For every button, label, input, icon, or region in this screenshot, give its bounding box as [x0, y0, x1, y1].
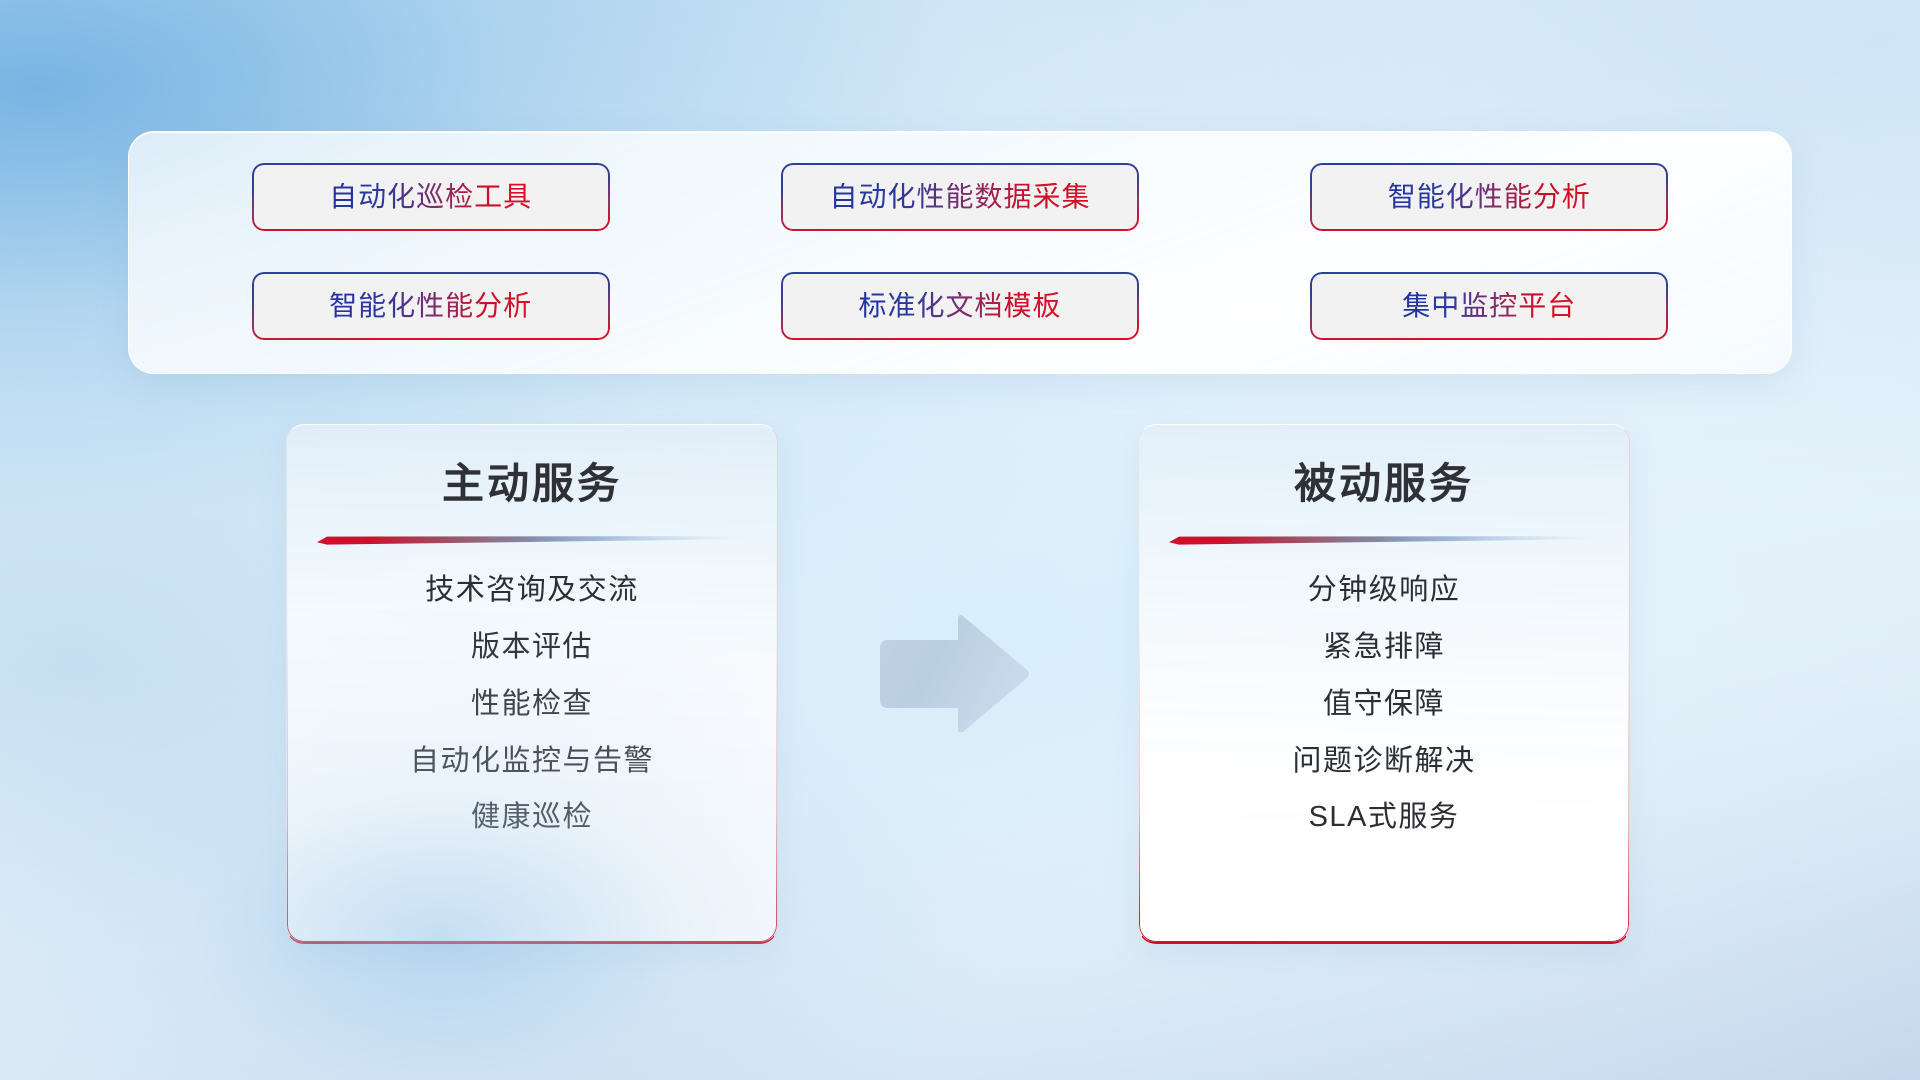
card-title: 主动服务 [287, 461, 777, 507]
list-item[interactable]: 自动化监控与告警 [410, 744, 654, 779]
service-list-proactive: 技术咨询及交流 版本评估 性能检查 自动化监控与告警 健康巡检 [287, 573, 777, 835]
divider-icon [1169, 533, 1599, 545]
capability-pill-label: 自动化巡检工具 [329, 183, 532, 211]
service-list-reactive: 分钟级响应 紧急排障 值守保障 问题诊断解决 SLA式服务 [1139, 573, 1629, 835]
capability-pill-label: 智能化性能分析 [1388, 183, 1591, 211]
capability-pill-label: 集中监控平台 [1402, 292, 1576, 320]
capability-pill-label: 智能化性能分析 [329, 292, 532, 320]
arrow-right-icon [872, 612, 1032, 732]
capability-pill-label: 标准化文档模板 [858, 292, 1061, 320]
card-divider [1169, 533, 1599, 545]
capability-pill-6[interactable]: 集中监控平台 [1310, 272, 1668, 340]
list-item[interactable]: 问题诊断解决 [1292, 744, 1475, 779]
list-item[interactable]: 值守保障 [1323, 687, 1445, 722]
list-item[interactable]: 性能检查 [471, 687, 593, 722]
service-card-reactive[interactable]: 被动服务 分钟级响应 紧急排障 [1138, 424, 1630, 944]
list-item[interactable]: 版本评估 [471, 630, 593, 665]
divider-icon [317, 533, 747, 545]
slide-canvas: 自动化巡检工具 自动化性能数据采集 智能化性能分析 智能化性能分析 标准化文档模… [0, 0, 1920, 1080]
capability-pill-5[interactable]: 标准化文档模板 [781, 272, 1139, 340]
card-title: 被动服务 [1139, 461, 1629, 507]
capability-pill-4[interactable]: 智能化性能分析 [252, 272, 610, 340]
service-card-proactive[interactable]: 主动服务 技术咨询及交流 版本评估 [286, 424, 778, 944]
capability-pill-2[interactable]: 自动化性能数据采集 [781, 163, 1139, 231]
list-item[interactable]: 分钟级响应 [1308, 573, 1461, 608]
capability-pill-1[interactable]: 自动化巡检工具 [252, 163, 610, 231]
capability-pill-label: 自动化性能数据采集 [829, 183, 1090, 211]
card-divider [317, 533, 747, 545]
list-item[interactable]: 健康巡检 [471, 800, 593, 835]
list-item[interactable]: 紧急排障 [1323, 630, 1445, 665]
capabilities-panel: 自动化巡检工具 自动化性能数据采集 智能化性能分析 智能化性能分析 标准化文档模… [128, 131, 1792, 374]
capability-pill-3[interactable]: 智能化性能分析 [1310, 163, 1668, 231]
list-item[interactable]: SLA式服务 [1309, 800, 1460, 835]
list-item[interactable]: 技术咨询及交流 [425, 573, 639, 608]
